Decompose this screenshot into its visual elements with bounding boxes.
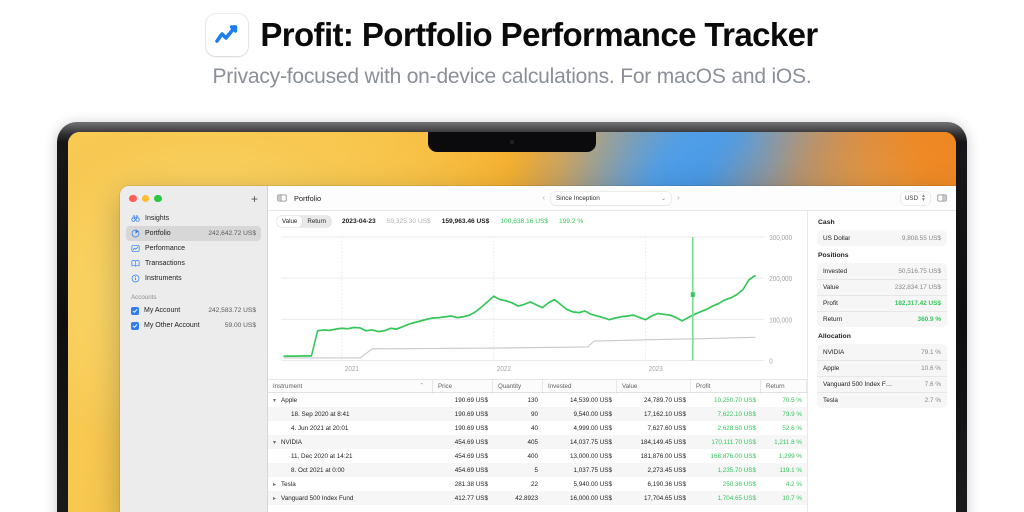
inspector-label: Value — [823, 284, 839, 291]
info-circle-icon — [131, 274, 140, 283]
inspector-row: Vanguard 500 Index F… 7.6 % — [817, 376, 947, 392]
sidebar-item-insights[interactable]: Insights — [126, 211, 261, 226]
cell-instrument: Tesla — [281, 481, 296, 488]
svg-text:0: 0 — [769, 358, 773, 365]
table-header-row: Instrument ⌃ Price Quantity Invested Val… — [268, 380, 807, 393]
svg-text:2023: 2023 — [649, 366, 663, 373]
sidebar-item-portfolio[interactable]: Portfolio 242,642.72 US$ — [126, 226, 261, 241]
inspector-label: Tesla — [823, 397, 838, 404]
cell-value: 181,876.00 US$ — [617, 453, 691, 460]
cell-return: 70.5 % — [761, 397, 807, 404]
laptop-screen: + Insights Portfolio 242,642.72 US$ Perf… — [68, 132, 956, 512]
currency-select[interactable]: USD ▲▼ — [901, 192, 930, 205]
inspector-label: Profit — [823, 300, 838, 307]
sidebar-toggle-icon[interactable] — [277, 193, 287, 203]
cell-profit: 1,704.65 US$ — [691, 495, 761, 502]
sort-ascending-icon: ⌃ — [419, 383, 427, 389]
summary-invested: 59,325.30 US$ — [387, 218, 431, 225]
cell-return: 79.9 % — [761, 411, 807, 418]
inspector-row: US Dollar 9,808.55 US$ — [817, 230, 947, 246]
account-row[interactable]: My Account 242,583.72 US$ — [126, 303, 261, 318]
hero-title-row: Profit: Portfolio Performance Tracker — [0, 14, 1024, 56]
inspector-row: Return 360.9 % — [817, 311, 947, 327]
inspector-value: 7.6 % — [921, 381, 941, 388]
table-row[interactable]: 18. Sep 2020 at 8:41 190.69 US$ 90 9,540… — [268, 407, 807, 421]
account-label: My Other Account — [144, 322, 200, 329]
cell-return: 52.6 % — [761, 425, 807, 432]
inspector-row: Value 232,834.17 US$ — [817, 279, 947, 295]
cell-profit: 1,235.70 US$ — [691, 467, 761, 474]
cell-invested: 9,540.00 US$ — [543, 411, 617, 418]
table-row[interactable]: 8. Oct 2021 at 0:00 454.69 US$ 5 1,037.7… — [268, 463, 807, 477]
inspector-label: Vanguard 500 Index F… — [823, 381, 892, 388]
app-icon — [206, 14, 248, 56]
summary-date: 2023-04-23 — [342, 218, 376, 225]
inspector-value: 10.6 % — [917, 365, 941, 372]
inspector-row: NVIDIA 79.1 % — [817, 344, 947, 360]
cell-profit: 168,876.00 US$ — [691, 453, 761, 460]
segment-value[interactable]: Value — [277, 216, 302, 227]
checkbox-checked-icon[interactable] — [131, 307, 139, 315]
content-split: ValueReturn 2023-04-23 59,325.30 US$ 159… — [268, 211, 956, 512]
holdings-table: Instrument ⌃ Price Quantity Invested Val… — [268, 379, 807, 512]
cash-header: Cash — [818, 219, 947, 226]
cell-quantity: 42.8923 — [493, 495, 543, 502]
disclosure-icon[interactable]: ▸ — [273, 495, 278, 502]
performance-chart[interactable]: 0100,000200,000300,000202120222023 — [268, 230, 807, 379]
cell-quantity: 400 — [493, 453, 543, 460]
summary-strip: ValueReturn 2023-04-23 59,325.30 US$ 159… — [268, 211, 807, 230]
inspector-panel: Cash US Dollar 9,808.55 US$ Positions In… — [808, 211, 956, 512]
table-row[interactable]: 11. Dec 2020 at 14:21 454.69 US$ 400 13,… — [268, 449, 807, 463]
table-row[interactable]: ▾NVIDIA 454.69 US$ 405 14,037.75 US$ 184… — [268, 435, 807, 449]
inspector-label: US Dollar — [823, 235, 850, 242]
cell-quantity: 90 — [493, 411, 543, 418]
laptop-lid: + Insights Portfolio 242,642.72 US$ Perf… — [57, 122, 967, 512]
cell-instrument: 8. Oct 2021 at 0:00 — [291, 467, 345, 474]
inspector-value: 9,808.55 US$ — [898, 235, 941, 242]
column-header-return[interactable]: Return — [761, 380, 807, 393]
table-row[interactable]: ▸Tesla 281.38 US$ 22 5,940.00 US$ 6,190.… — [268, 477, 807, 491]
summary-return: 199.2 % — [559, 218, 583, 225]
inspector-row: Apple 10.6 % — [817, 360, 947, 376]
inspector-label: NVIDIA — [823, 349, 844, 356]
cell-value: 2,273.45 US$ — [617, 467, 691, 474]
sidebar: + Insights Portfolio 242,642.72 US$ Perf… — [120, 186, 268, 512]
inspector-value: 79.1 % — [917, 349, 941, 356]
inspector-label: Invested — [823, 268, 847, 275]
sidebar-titlebar: + — [120, 186, 267, 211]
cell-quantity: 40 — [493, 425, 543, 432]
column-header-price[interactable]: Price — [433, 380, 493, 393]
account-amount: 242,583.72 US$ — [208, 307, 256, 314]
cell-value: 17,162.10 US$ — [617, 411, 691, 418]
positions-header: Positions — [818, 252, 947, 259]
camera-icon — [510, 140, 514, 144]
sidebar-item-amount: 242,642.72 US$ — [208, 230, 256, 237]
sidebar-item-performance[interactable]: Performance — [126, 241, 261, 256]
cell-value: 184,149.45 US$ — [617, 439, 691, 446]
cell-profit: 7,622.10 US$ — [691, 411, 761, 418]
app-window: + Insights Portfolio 242,642.72 US$ Perf… — [120, 186, 956, 512]
cell-quantity: 130 — [493, 397, 543, 404]
chevron-down-icon: ⌄ — [661, 195, 666, 202]
cell-profit: 250.36 US$ — [691, 481, 761, 488]
cell-profit: 2,628.60 US$ — [691, 425, 761, 432]
allocation-header: Allocation — [818, 333, 947, 340]
inspector-value: 182,317.42 US$ — [891, 300, 941, 307]
table-body: ▾Apple 190.69 US$ 130 14,539.00 US$ 24,7… — [268, 393, 807, 505]
cell-profit: 170,111.70 US$ — [691, 439, 761, 446]
inspector-row: Invested 50,516.75 US$ — [817, 263, 947, 279]
value-return-segmented-control[interactable]: ValueReturn — [277, 216, 331, 227]
cell-profit: 10,250.70 US$ — [691, 397, 761, 404]
hero-subtitle: Privacy-focused with on-device calculati… — [0, 65, 1024, 89]
cell-price: 412.77 US$ — [433, 495, 493, 502]
chevron-right-icon[interactable]: › — [677, 194, 680, 202]
table-row[interactable]: ▾Apple 190.69 US$ 130 14,539.00 US$ 24,7… — [268, 393, 807, 407]
inspector-value: 232,834.17 US$ — [891, 284, 941, 291]
cell-return: 10.7 % — [761, 495, 807, 502]
table-row[interactable]: ▸Vanguard 500 Index Fund 412.77 US$ 42.8… — [268, 491, 807, 505]
cell-return: 1,299 % — [761, 453, 807, 460]
account-row[interactable]: My Other Account 59.00 US$ — [126, 318, 261, 333]
cell-instrument: 11. Dec 2020 at 14:21 — [291, 453, 353, 460]
cell-price: 454.69 US$ — [433, 439, 493, 446]
sidebar-item-label: Insights — [145, 215, 169, 222]
account-label: My Account — [144, 307, 180, 314]
inspector-row: Tesla 2.7 % — [817, 392, 947, 408]
inspector-value: 360.9 % — [914, 316, 941, 323]
cell-return: 1,211.8 % — [761, 439, 807, 446]
cash-card: US Dollar 9,808.55 US$ — [817, 230, 947, 246]
chart-line-up-icon — [213, 21, 241, 49]
svg-text:2022: 2022 — [497, 366, 511, 373]
account-amount: 59.00 US$ — [225, 322, 256, 329]
sidebar-nav: Insights Portfolio 242,642.72 US$ Perfor… — [120, 211, 267, 286]
cell-invested: 14,539.00 US$ — [543, 397, 617, 404]
hero-header: Profit: Portfolio Performance Tracker Pr… — [0, 0, 1024, 89]
chart-canvas: 0100,000200,000300,000202120222023 — [277, 230, 807, 379]
svg-text:2021: 2021 — [345, 366, 359, 373]
cell-quantity: 22 — [493, 481, 543, 488]
zoom-button[interactable] — [154, 195, 162, 203]
period-navigator: ‹ Since Inception ⌄ › — [542, 192, 679, 205]
toolbar: Portfolio ‹ Since Inception ⌄ › USD ▲▼ — [268, 186, 956, 211]
column-header-quantity[interactable]: Quantity — [493, 380, 543, 393]
sidebar-accounts-header: Accounts — [120, 286, 267, 303]
cell-invested: 16,000.00 US$ — [543, 495, 617, 502]
cell-price: 190.69 US$ — [433, 425, 493, 432]
checkbox-checked-icon[interactable] — [131, 322, 139, 330]
page-title: Profit: Portfolio Performance Tracker — [260, 16, 817, 54]
cell-value: 7,627.60 US$ — [617, 425, 691, 432]
inspector-value: 2.7 % — [921, 397, 941, 404]
close-button[interactable] — [129, 195, 137, 203]
cell-price: 454.69 US$ — [433, 453, 493, 460]
disclosure-icon[interactable]: ▾ — [273, 397, 278, 404]
svg-text:300,000: 300,000 — [769, 235, 792, 242]
stepper-icon: ▲▼ — [921, 194, 926, 202]
cell-value: 6,190.36 US$ — [617, 481, 691, 488]
column-header-value[interactable]: Value — [617, 380, 691, 393]
cell-value: 24,789.70 US$ — [617, 397, 691, 404]
cell-price: 454.69 US$ — [433, 467, 493, 474]
cell-quantity: 405 — [493, 439, 543, 446]
column-header-invested[interactable]: Invested — [543, 380, 617, 393]
cell-price: 281.38 US$ — [433, 481, 493, 488]
sidebar-item-label: Portfolio — [145, 230, 171, 237]
cell-price: 190.69 US$ — [433, 397, 493, 404]
cell-quantity: 5 — [493, 467, 543, 474]
cell-price: 190.69 US$ — [433, 411, 493, 418]
disclosure-icon[interactable]: ▾ — [273, 439, 278, 446]
laptop-mockup: + Insights Portfolio 242,642.72 US$ Perf… — [57, 122, 967, 512]
chevron-left-icon[interactable]: ‹ — [542, 194, 545, 202]
period-select[interactable]: Since Inception ⌄ — [551, 192, 671, 205]
cell-invested: 14,037.75 US$ — [543, 439, 617, 446]
cell-instrument: Vanguard 500 Index Fund — [281, 495, 353, 502]
inspector-label: Return — [823, 316, 842, 323]
minimize-button[interactable] — [142, 195, 150, 203]
sidebar-item-label: Performance — [145, 245, 185, 252]
inspector-value: 50,516.75 US$ — [894, 268, 941, 275]
binoculars-icon — [131, 214, 140, 223]
add-button[interactable]: + — [251, 193, 258, 205]
screen-notch — [428, 132, 596, 152]
sidebar-item-transactions[interactable]: Transactions — [126, 256, 261, 271]
cell-invested: 4,999.00 US$ — [543, 425, 617, 432]
column-header-profit[interactable]: Profit — [691, 380, 761, 393]
svg-text:100,000: 100,000 — [769, 317, 792, 324]
segment-return[interactable]: Return — [302, 216, 331, 227]
cell-return: 119.1 % — [761, 467, 807, 474]
cell-instrument: 18. Sep 2020 at 8:41 — [291, 411, 349, 418]
summary-profit: 100,638.16 US$ — [500, 218, 548, 225]
disclosure-icon[interactable]: ▸ — [273, 481, 278, 488]
inspector-toggle-icon[interactable] — [937, 193, 947, 203]
sidebar-accounts: My Account 242,583.72 US$ My Other Accou… — [120, 303, 267, 333]
positions-card: Invested 50,516.75 US$ Value 232,834.17 … — [817, 263, 947, 327]
pie-clock-icon — [131, 229, 140, 238]
currency-value: USD — [905, 195, 918, 202]
chart-line-icon — [131, 244, 140, 253]
sidebar-item-label: Instruments — [145, 275, 182, 282]
allocation-card: NVIDIA 79.1 % Apple 10.6 % Vanguard 500 … — [817, 344, 947, 408]
window-title: Portfolio — [294, 194, 321, 203]
traffic-lights[interactable] — [129, 195, 162, 203]
cell-instrument: NVIDIA — [281, 439, 302, 446]
sidebar-item-instruments[interactable]: Instruments — [126, 271, 261, 286]
period-value: Since Inception — [556, 195, 600, 202]
cell-invested: 5,940.00 US$ — [543, 481, 617, 488]
inspector-row: Profit 182,317.42 US$ — [817, 295, 947, 311]
cell-instrument: 4. Jun 2021 at 20:01 — [291, 425, 348, 432]
column-header-instrument[interactable]: Instrument ⌃ — [268, 380, 433, 393]
main-area: Portfolio ‹ Since Inception ⌄ › USD ▲▼ — [268, 186, 956, 512]
summary-value: 159,963.46 US$ — [442, 218, 490, 225]
cell-instrument: Apple — [281, 397, 297, 404]
center-pane: ValueReturn 2023-04-23 59,325.30 US$ 159… — [268, 211, 808, 512]
cell-invested: 13,000.00 US$ — [543, 453, 617, 460]
table-row[interactable]: 4. Jun 2021 at 20:01 190.69 US$ 40 4,999… — [268, 421, 807, 435]
sidebar-item-label: Transactions — [145, 260, 185, 267]
inspector-label: Apple — [823, 365, 839, 372]
cell-return: 4.2 % — [761, 481, 807, 488]
svg-text:200,000: 200,000 — [769, 276, 792, 283]
cell-value: 17,704.65 US$ — [617, 495, 691, 502]
book-icon — [131, 259, 140, 268]
cell-invested: 1,037.75 US$ — [543, 467, 617, 474]
